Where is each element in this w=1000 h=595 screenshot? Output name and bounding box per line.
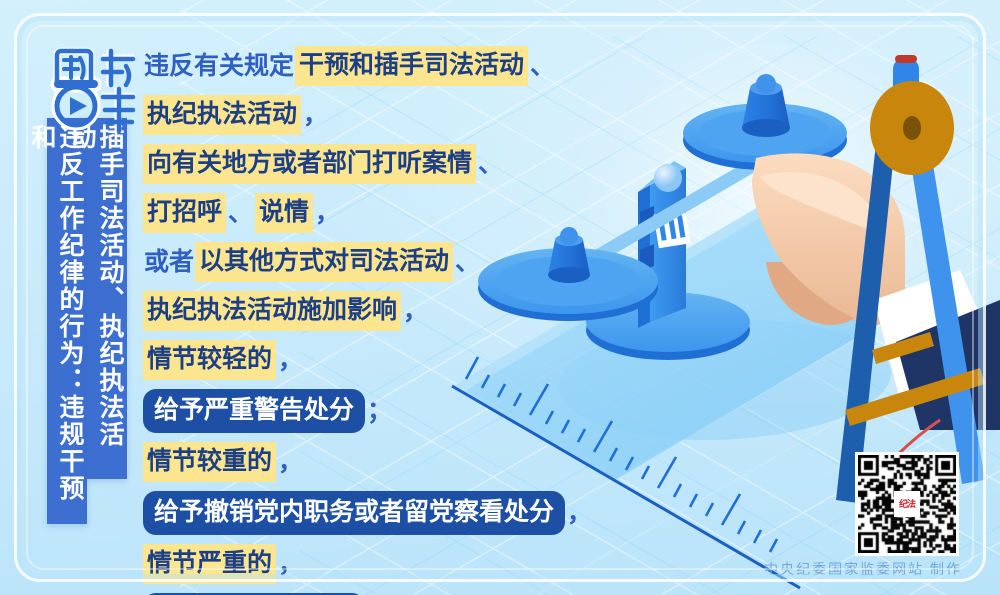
poster-root: 插手司法活动、执纪执法活动 违反工作纪律的行为：违规干预和 违反有关规定干预和插… — [0, 0, 1000, 595]
punctuation: 、 — [528, 48, 557, 85]
punctuation: 、 — [476, 146, 505, 183]
text-line: 执纪执法活动， — [143, 95, 613, 135]
logo[interactable] — [48, 44, 144, 140]
text-line: 打招呼、说情， — [143, 193, 613, 233]
logo-mark — [48, 44, 144, 140]
text-line: 或者以其他方式对司法活动、 — [143, 242, 613, 282]
qr-code[interactable]: 纪法 — [855, 452, 959, 556]
plain-phrase: 违反有关规定 — [143, 48, 295, 85]
text-line: 情节严重的， — [143, 544, 613, 584]
highlighted-phrase: 情节较轻的 — [143, 340, 276, 380]
punctuation: ， — [276, 444, 305, 481]
punctuation: ， — [276, 342, 305, 379]
highlighted-phrase: 打招呼 — [143, 193, 226, 233]
punctuation: ； — [365, 393, 394, 430]
punctuation: ， — [301, 97, 330, 134]
highlighted-phrase: 干预和插手司法活动 — [295, 46, 528, 86]
plain-phrase: 或者 — [143, 244, 195, 281]
punctuation: ， — [401, 293, 430, 330]
highlighted-phrase: 向有关地方或者部门打听案情 — [143, 144, 476, 184]
highlighted-phrase: 情节严重的 — [143, 544, 276, 584]
highlighted-phrase: 执纪执法活动 — [143, 95, 301, 135]
banner-column-left: 违反工作纪律的行为：违规干预和 — [47, 118, 87, 524]
text-line: 情节较轻的， — [143, 340, 613, 380]
punctuation: ， — [565, 495, 594, 532]
scale-pan-right — [683, 74, 847, 170]
credit-line: 中央纪委国家监委网站 制作 — [764, 559, 962, 579]
punctuation: ， — [276, 546, 305, 583]
text-line: 情节较重的， — [143, 442, 613, 482]
qr-center-logo: 纪法 — [894, 491, 920, 517]
highlighted-phrase: 执纪执法活动施加影响 — [143, 291, 401, 331]
regulation-text-body: 违反有关规定干预和插手司法活动、执纪执法活动，向有关地方或者部门打听案情、打招呼… — [143, 46, 613, 595]
vertical-banner: 插手司法活动、执纪执法活动 违反工作纪律的行为：违规干预和 — [47, 118, 127, 524]
punctuation: ， — [313, 195, 342, 232]
highlighted-phrase: 情节较重的 — [143, 442, 276, 482]
text-line: 执纪执法活动施加影响， — [143, 291, 613, 331]
banner-column-right: 插手司法活动、执纪执法活动 — [87, 118, 127, 479]
text-line: 向有关地方或者部门打听案情、 — [143, 144, 613, 184]
penalty-badge: 给予严重警告处分 — [143, 389, 365, 433]
penalty-badge: 给予撤销党内职务或者留党察看处分 — [143, 491, 565, 535]
punctuation: 、 — [453, 244, 482, 281]
punctuation: 、 — [226, 195, 255, 232]
text-line: 给予严重警告处分； — [143, 389, 613, 433]
highlighted-phrase: 以其他方式对司法活动 — [195, 242, 453, 282]
text-line: 违反有关规定干预和插手司法活动、 — [143, 46, 613, 86]
text-line: 给予撤销党内职务或者留党察看处分， — [143, 491, 613, 535]
highlighted-phrase: 说情 — [255, 193, 313, 233]
